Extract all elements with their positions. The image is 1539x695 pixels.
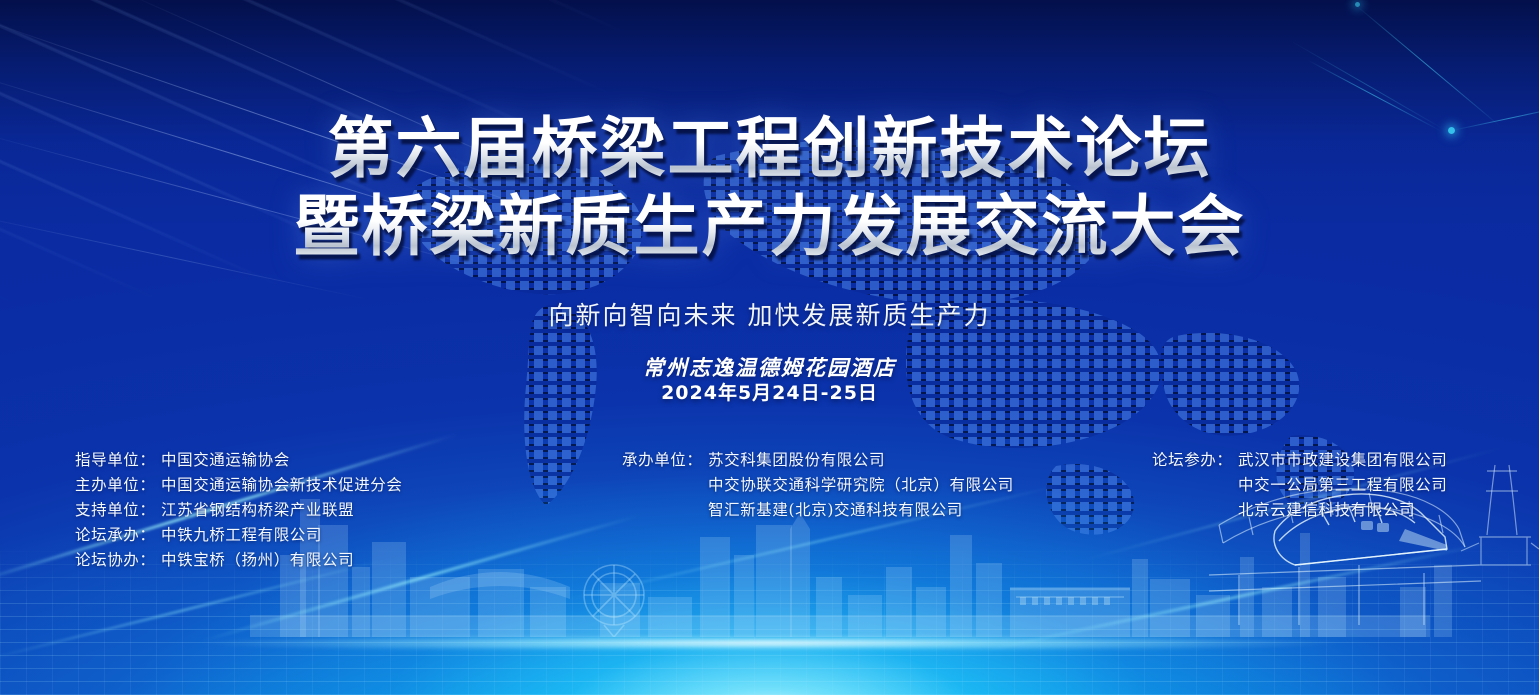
organizer-row: 北京云建信科技有限公司 [1152,498,1447,523]
organizer-row: 支持单位： 江苏省钢结构桥梁产业联盟 [75,498,403,523]
organizer-row: 主办单位： 中国交通运输协会新技术促进分会 [75,473,403,498]
organizer-value: 中国交通运输协会新技术促进分会 [161,473,403,498]
event-date: 2024年5月24日-25日 [0,378,1539,405]
organizer-value: 中铁宝桥（扬州）有限公司 [161,548,354,573]
page-title: 第六届桥梁工程创新技术论坛 暨桥梁新质生产力发展交流大会 [0,110,1539,266]
organizer-value: 智汇新基建(北京)交通科技有限公司 [708,498,963,523]
organizer-row: 论坛协办： 中铁宝桥（扬州）有限公司 [75,548,403,573]
subtitle-slogan: 向新向智向未来 加快发展新质生产力 [0,296,1539,332]
organizer-label: 论坛承办： [75,523,161,548]
organizer-label: 支持单位： [75,498,161,523]
organizer-value: 中国交通运输协会 [161,448,290,473]
organizer-value: 武汉市市政建设集团有限公司 [1238,448,1447,473]
organizer-row: 智汇新基建(北京)交通科技有限公司 [622,498,1014,523]
organizer-value: 中交协联交通科学研究院（北京）有限公司 [708,473,1014,498]
organizer-value: 北京云建信科技有限公司 [1238,498,1415,523]
title-line-1: 第六届桥梁工程创新技术论坛 [0,110,1539,188]
organizer-label: 论坛参办： [1152,448,1238,473]
organizer-row: 论坛参办： 武汉市市政建设集团有限公司 [1152,448,1447,473]
organizer-row: 承办单位： 苏交科集团股份有限公司 [622,448,1014,473]
organizer-column-middle: 承办单位： 苏交科集团股份有限公司 中交协联交通科学研究院（北京）有限公司 智汇… [622,448,1014,523]
organizer-label: 论坛协办： [75,548,161,573]
organizer-column-right: 论坛参办： 武汉市市政建设集团有限公司 中交一公局第三工程有限公司 北京云建信科… [1152,448,1447,523]
organizer-label: 指导单位： [75,448,161,473]
organizer-column-left: 指导单位： 中国交通运输协会 主办单位： 中国交通运输协会新技术促进分会 支持单… [75,448,403,573]
organizer-row: 中交协联交通科学研究院（北京）有限公司 [622,473,1014,498]
organizer-value: 中铁九桥工程有限公司 [161,523,322,548]
conference-banner: 第六届桥梁工程创新技术论坛 暨桥梁新质生产力发展交流大会 向新向智向未来 加快发… [0,0,1539,695]
organizer-value: 中交一公局第三工程有限公司 [1238,473,1447,498]
horizon-glow [0,637,1539,649]
organizer-value: 江苏省钢结构桥梁产业联盟 [161,498,354,523]
title-line-2: 暨桥梁新质生产力发展交流大会 [0,188,1539,266]
organizer-label: 承办单位： [622,448,708,473]
organizer-label: 主办单位： [75,473,161,498]
organizer-row: 中交一公局第三工程有限公司 [1152,473,1447,498]
organizer-row: 指导单位： 中国交通运输协会 [75,448,403,473]
organizer-row: 论坛承办： 中铁九桥工程有限公司 [75,523,403,548]
organizer-value: 苏交科集团股份有限公司 [708,448,885,473]
